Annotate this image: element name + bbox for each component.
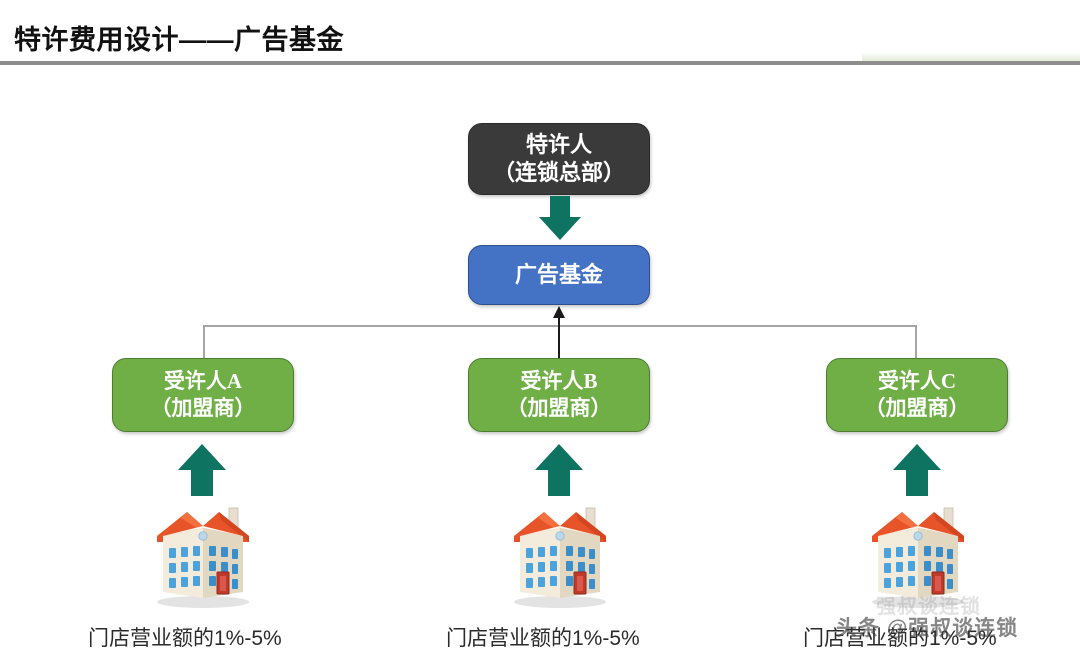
arrow-up-icon-store-c <box>893 444 941 496</box>
node-franchisee-c-text: 受许人 <box>878 370 941 393</box>
arrow-head <box>539 217 581 240</box>
connector-drop-c <box>915 325 917 359</box>
node-franchisee-a[interactable]: 受许人A （加盟商） <box>112 358 294 432</box>
node-franchisee-c-letter: C <box>941 369 956 393</box>
arrow-down-icon <box>539 196 581 240</box>
node-franchisee-a-line2: （加盟商） <box>151 396 256 423</box>
node-franchisor-line2: （连锁总部） <box>493 159 625 187</box>
arrow-up-icon-store-a <box>178 444 226 496</box>
node-franchisee-c[interactable]: 受许人C （加盟商） <box>826 358 1008 432</box>
node-ad-fund[interactable]: 广告基金 <box>468 245 650 305</box>
caption-store-b: 门店营业额的1%-5% <box>446 622 640 652</box>
title-divider <box>0 61 1080 65</box>
watermark: 头条 @强叔谈连锁 <box>836 612 1018 642</box>
node-franchisee-c-line2: （加盟商） <box>865 396 970 423</box>
node-franchisor-line1: 特许人 <box>526 131 592 159</box>
arrow-up-icon-store-b <box>535 444 583 496</box>
page-title: 特许费用设计——广告基金 <box>14 18 344 57</box>
building-icon <box>500 492 620 610</box>
arrow-shaft <box>550 196 570 218</box>
caption-store-a: 门店营业额的1%-5% <box>88 622 282 652</box>
node-franchisor[interactable]: 特许人 （连锁总部） <box>468 123 650 195</box>
node-franchisee-a-letter: A <box>227 369 242 393</box>
node-franchisee-c-line1: 受许人C <box>878 368 956 396</box>
connector-drop-a <box>203 325 205 359</box>
node-franchisee-b-line1: 受许人B <box>520 368 597 396</box>
arrow-shaft <box>558 316 560 360</box>
node-ad-fund-label: 广告基金 <box>515 261 603 289</box>
arrow-head <box>893 444 941 470</box>
building-icon <box>143 492 263 610</box>
title-rule-accent <box>862 52 1080 61</box>
node-franchisee-b[interactable]: 受许人B （加盟商） <box>468 358 650 432</box>
arrow-head <box>535 444 583 470</box>
node-franchisee-a-line1: 受许人A <box>164 368 242 396</box>
node-franchisee-b-text: 受许人 <box>520 370 583 393</box>
node-franchisee-b-letter: B <box>583 369 597 393</box>
node-franchisee-a-text: 受许人 <box>164 370 227 393</box>
node-franchisee-b-line2: （加盟商） <box>507 396 612 423</box>
arrow-head <box>178 444 226 470</box>
arrow-up-icon-to-fund <box>552 306 566 360</box>
